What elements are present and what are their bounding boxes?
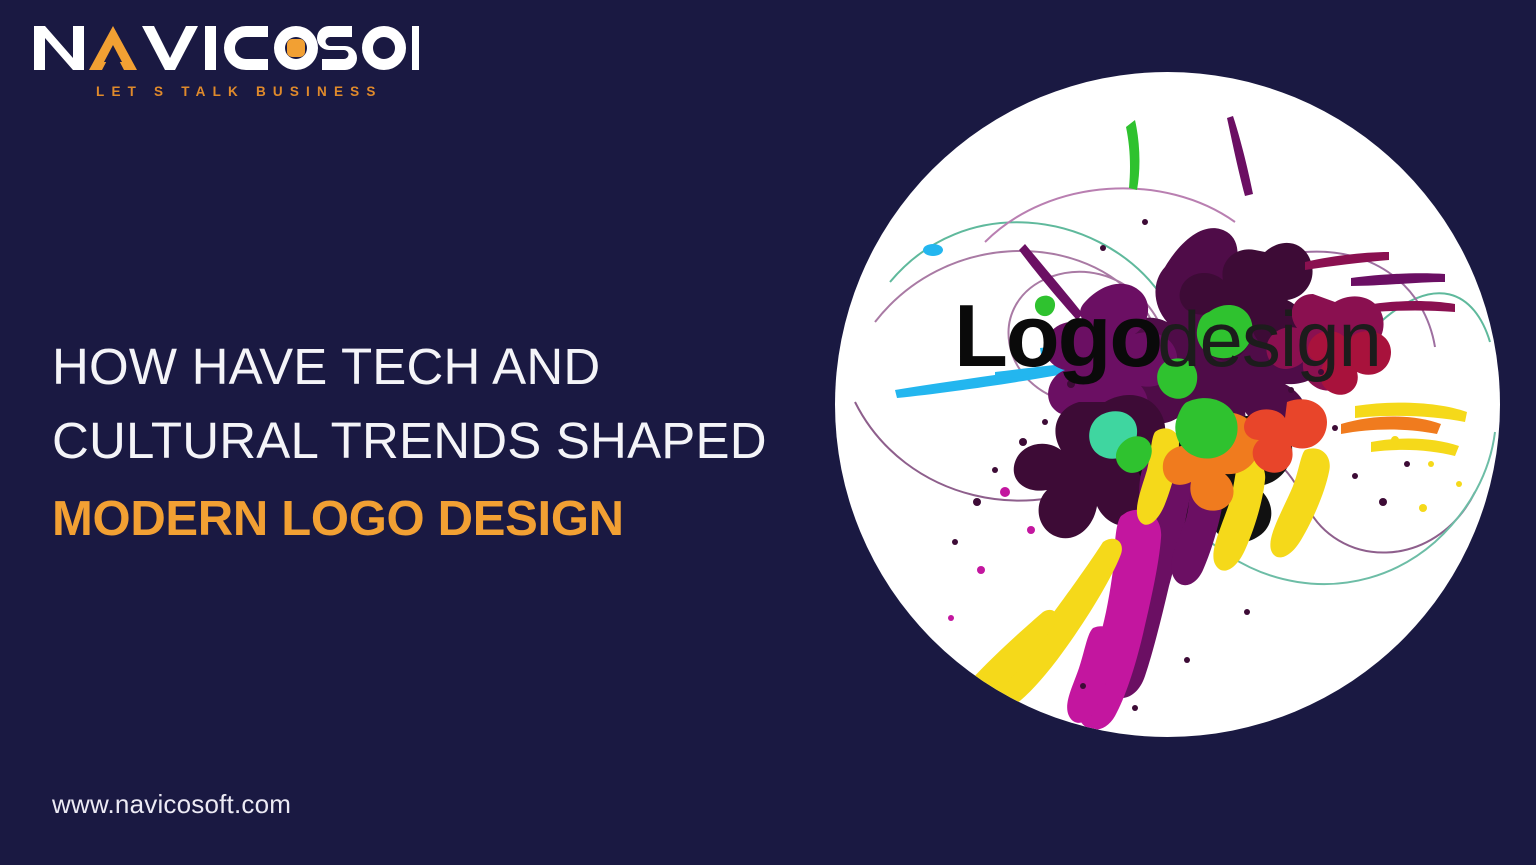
headline-block: HOW HAVE TECH AND CULTURAL TRENDS SHAPED… [52,330,812,556]
brand-tagline: LET S TALK BUSINESS [96,84,383,99]
hero-circle-image: Logodesign [835,72,1500,737]
navicosoft-wordmark-icon [34,22,419,74]
site-url[interactable]: www.navicosoft.com [52,789,291,820]
paint-splatter-artwork-icon [835,72,1500,737]
headline-line-3-accent: MODERN LOGO DESIGN [52,482,812,556]
brand-logo[interactable]: LET S TALK BUSINESS [34,22,454,112]
headline-line-1: HOW HAVE TECH AND [52,330,812,404]
poster-canvas: LET S TALK BUSINESS HOW HAVE TECH AND CU… [0,0,1536,865]
headline-line-2: CULTURAL TRENDS SHAPED [52,404,812,478]
